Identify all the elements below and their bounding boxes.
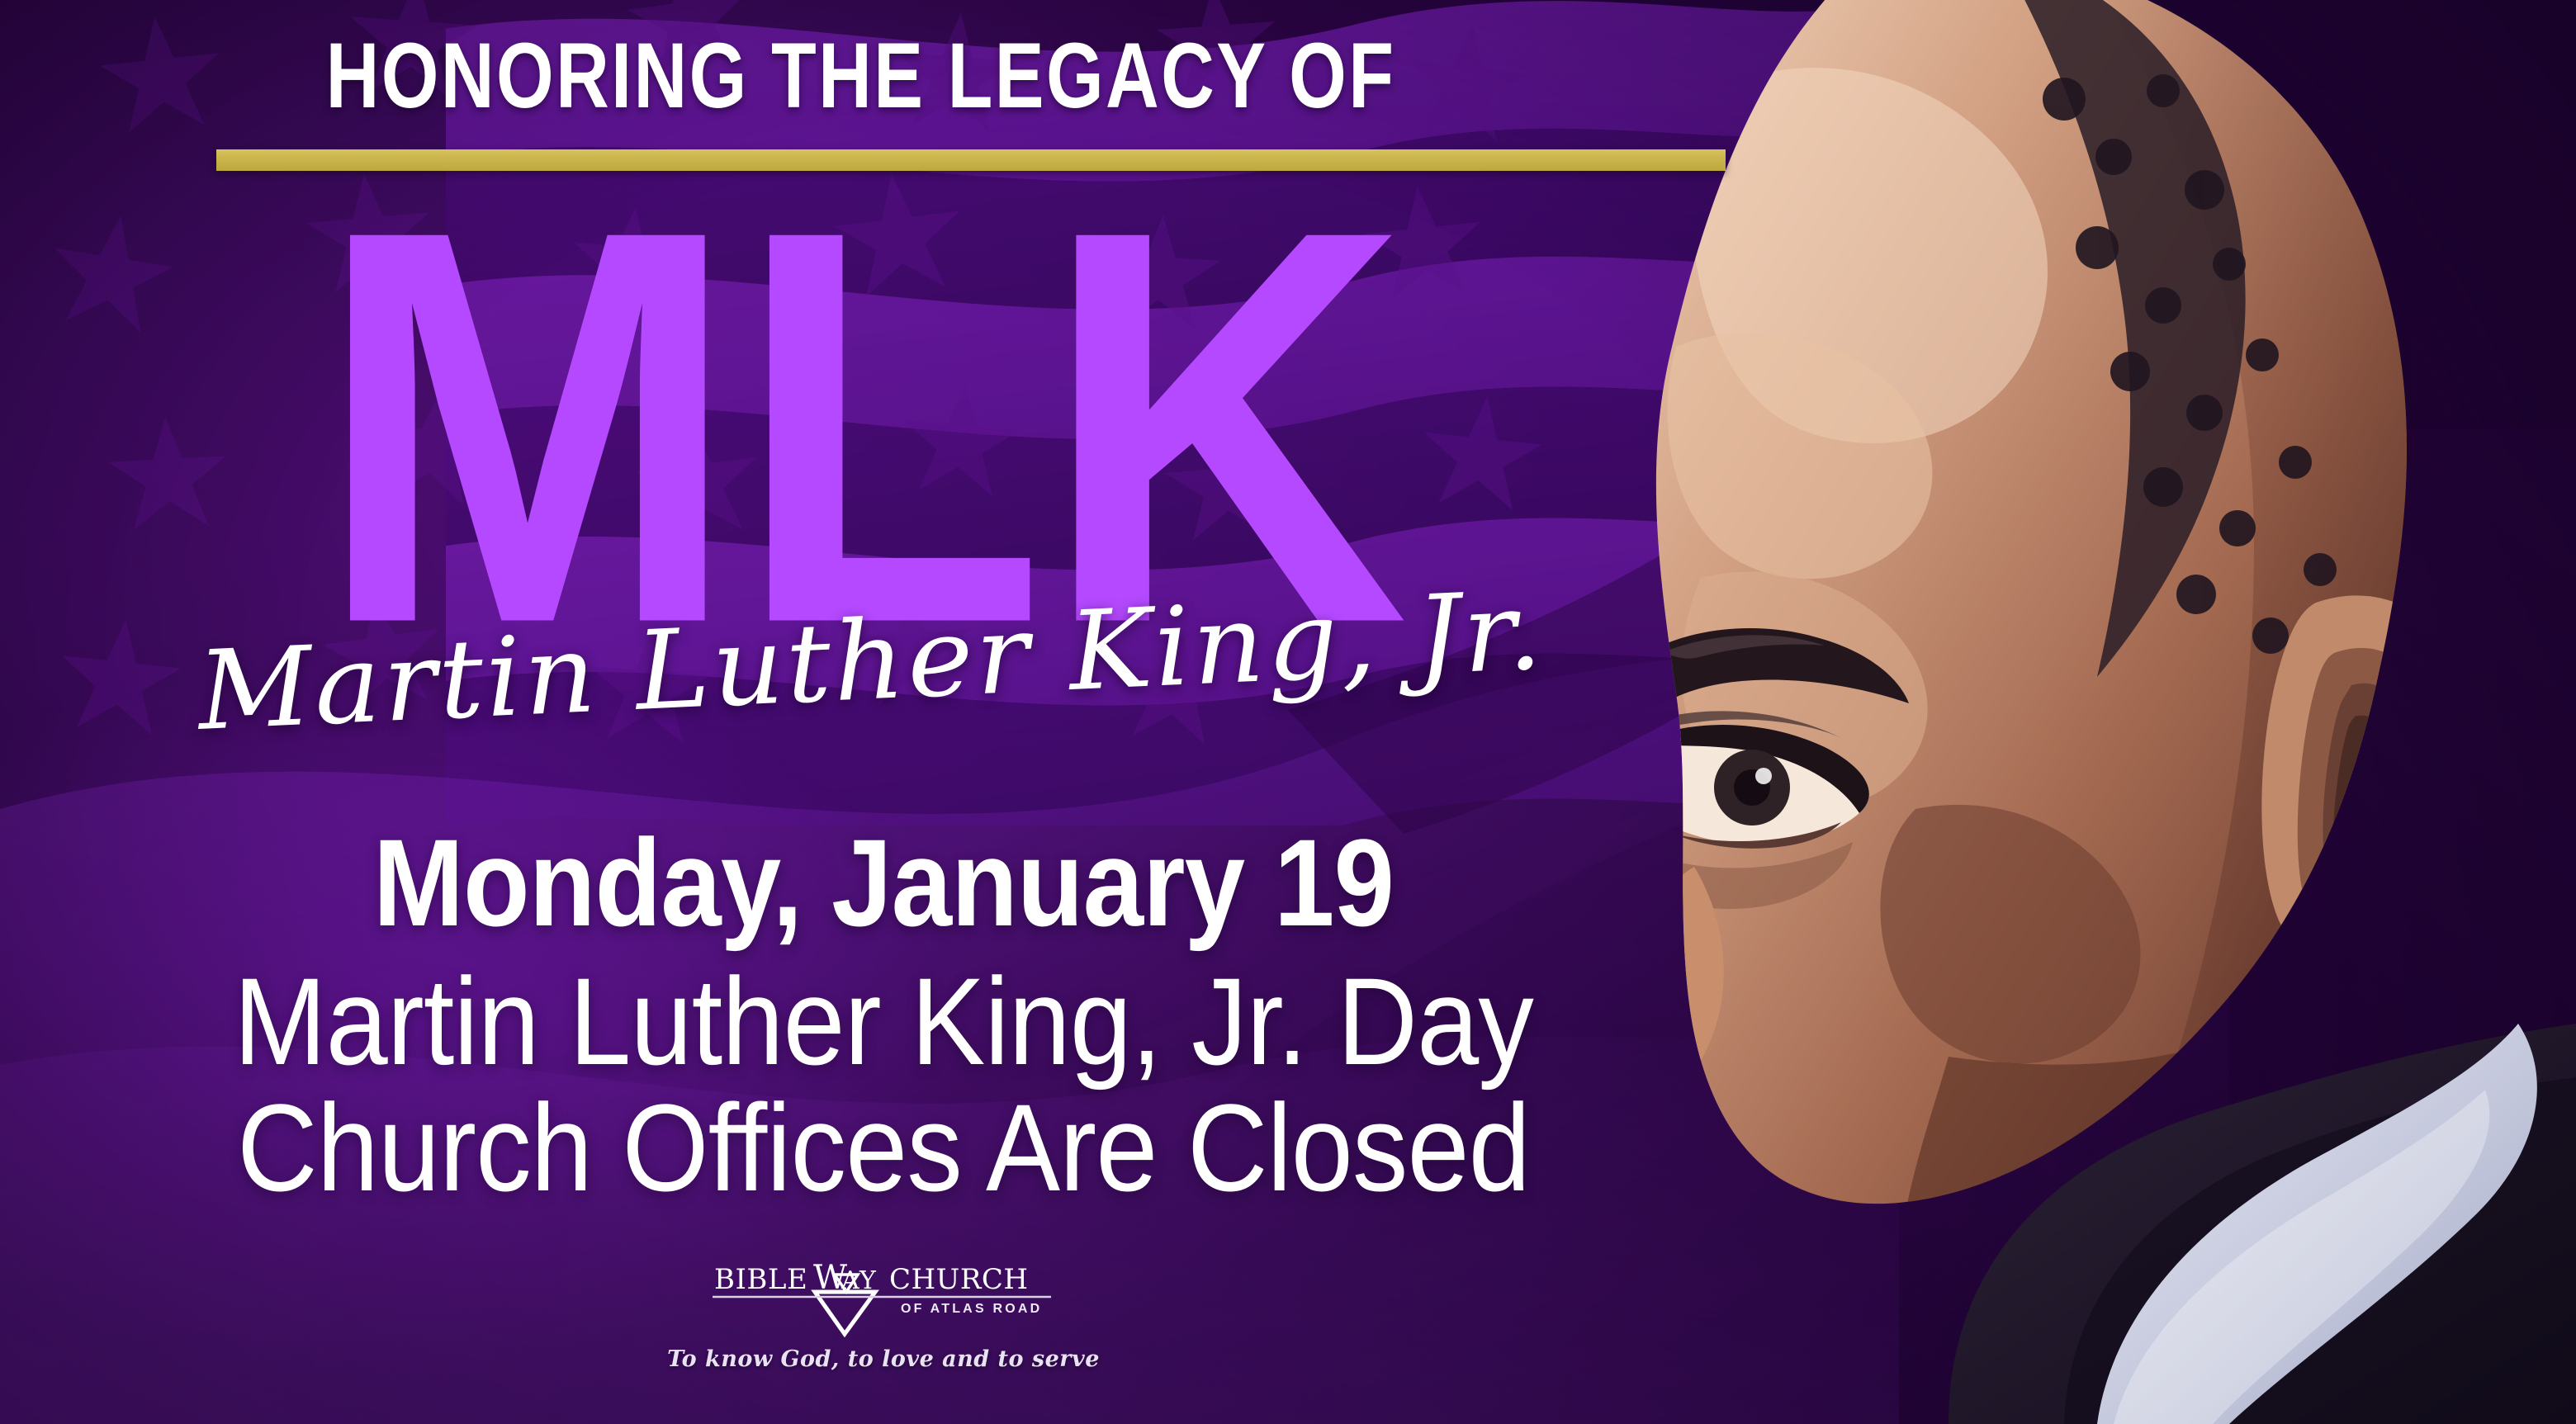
event-date: Monday, January 19	[106, 821, 1660, 944]
closure-notice: Church Offices Are Closed	[88, 1086, 1679, 1209]
event-name: Martin Luther King, Jr. Day	[88, 959, 1679, 1083]
mlk-day-poster: HONORING THE LEGACY OF MLK Martin Luther…	[0, 0, 2576, 1424]
logo-word-church: CHURCH	[889, 1263, 1029, 1296]
poster-content: HONORING THE LEGACY OF MLK Martin Luther…	[0, 0, 1759, 1424]
logo-word-bible: BIBLE	[714, 1263, 807, 1296]
church-logo-svg: BIBLE W A Y CHURCH OF ATLAS ROAD	[706, 1255, 1061, 1341]
church-logo-mark: BIBLE W A Y CHURCH OF ATLAS ROAD	[706, 1255, 1061, 1341]
church-tagline: To know God, to love and to serve	[667, 1346, 1100, 1372]
church-logo[interactable]: BIBLE W A Y CHURCH OF ATLAS ROAD	[0, 1255, 1767, 1372]
ear	[2261, 595, 2477, 961]
kicker-headline: HONORING THE LEGACY OF	[173, 30, 1550, 122]
logo-subline: OF ATLAS ROAD	[901, 1302, 1042, 1316]
